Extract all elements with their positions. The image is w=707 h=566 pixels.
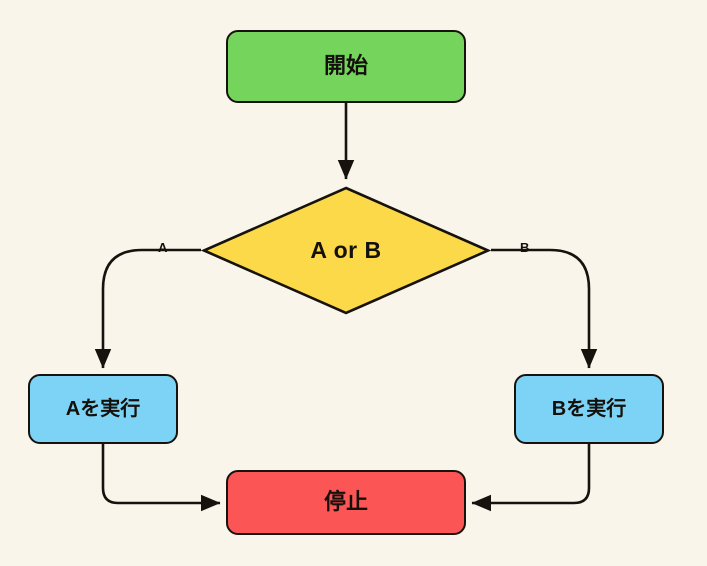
node-decision[interactable]: A or B: [201, 185, 491, 316]
node-execute-a[interactable]: Aを実行: [28, 374, 178, 444]
node-decision-label: A or B: [201, 185, 491, 316]
node-execute-b[interactable]: Bを実行: [514, 374, 664, 444]
node-execute-a-label: Aを実行: [66, 398, 140, 420]
node-stop-label: 停止: [324, 490, 368, 514]
node-start-label: 開始: [324, 54, 368, 78]
edge-decision-to-exec-b: [491, 250, 589, 368]
edge-decision-to-exec-a: [103, 250, 201, 368]
edge-exec-a-to-stop: [103, 444, 220, 503]
node-start[interactable]: 開始: [226, 30, 466, 103]
edge-label-branch-b: B: [520, 240, 529, 255]
edge-label-branch-a: A: [158, 240, 167, 255]
flowchart-canvas: 開始 A or B A B Aを実行 Bを実行 停止: [0, 0, 707, 566]
node-execute-b-label: Bを実行: [552, 398, 626, 420]
node-stop[interactable]: 停止: [226, 470, 466, 535]
edge-exec-b-to-stop: [472, 444, 589, 503]
